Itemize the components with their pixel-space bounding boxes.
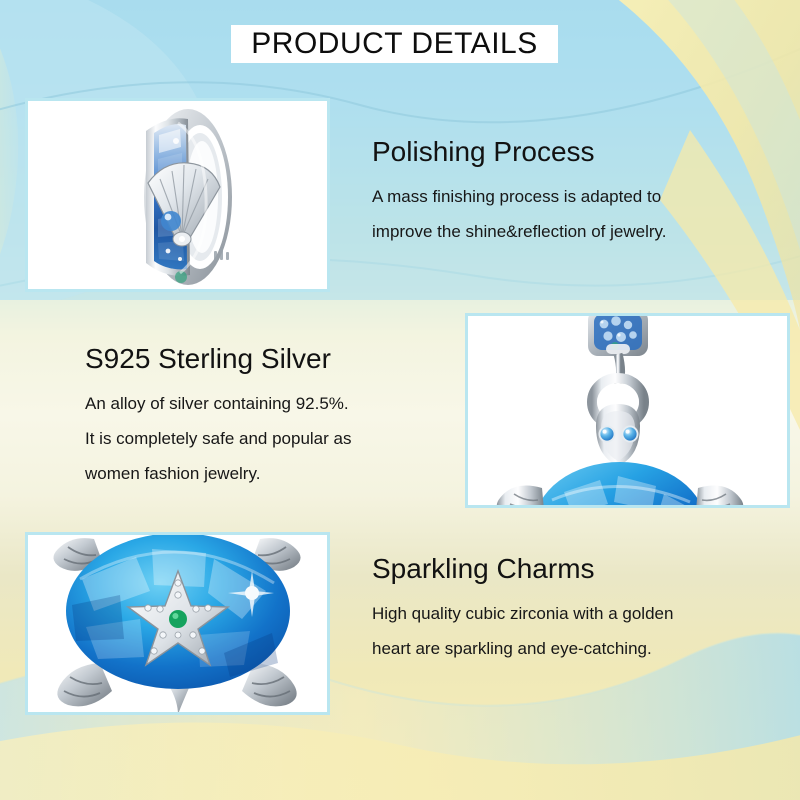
photo-canvas	[28, 101, 327, 289]
section-heading: S925 Sterling Silver	[85, 342, 351, 376]
section-body-line: A mass finishing process is adapted to	[372, 179, 667, 214]
section-body-line: improve the shine&reflection of jewelry.	[372, 214, 667, 249]
page-title-box: PRODUCT DETAILS	[231, 25, 558, 63]
section-body-line: It is completely safe and popular as	[85, 421, 351, 456]
product-details-infographic: PRODUCT DETAILS	[0, 0, 800, 800]
photo-canvas	[28, 535, 327, 712]
turtle-shell-closeup-photo	[25, 532, 330, 715]
section-polishing-process: Polishing Process A mass finishing proce…	[372, 135, 667, 249]
page-title: PRODUCT DETAILS	[251, 29, 537, 59]
section-body-line: High quality cubic zirconia with a golde…	[372, 596, 673, 631]
section-sterling-silver: S925 Sterling Silver An alloy of silver …	[85, 342, 351, 491]
turtle-pendant-photo	[465, 313, 790, 508]
section-body-line: women fashion jewelry.	[85, 456, 351, 491]
section-heading: Sparkling Charms	[372, 552, 673, 586]
section-heading: Polishing Process	[372, 135, 667, 169]
section-sparkling-charms: Sparkling Charms High quality cubic zirc…	[372, 552, 673, 666]
photo-canvas	[468, 316, 787, 505]
section-body-line: heart are sparkling and eye-catching.	[372, 631, 673, 666]
section-body-line: An alloy of silver containing 92.5%.	[85, 386, 351, 421]
seashell-spacer-ring-photo	[25, 98, 330, 292]
